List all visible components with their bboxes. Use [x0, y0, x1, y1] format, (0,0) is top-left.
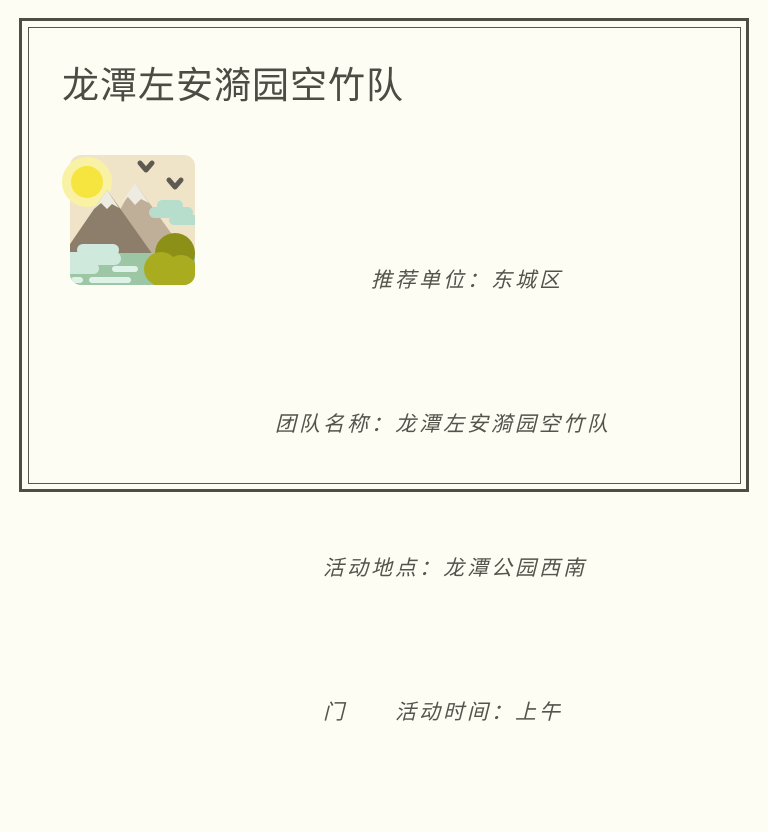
sun-core	[71, 166, 103, 198]
landscape-illustration-svg	[57, 145, 207, 295]
detail-line-team-name: 团队名称：龙潭左安漪园空竹队	[228, 400, 658, 448]
water-highlight-3	[89, 277, 131, 283]
detail-line-recommending-unit: 推荐单位：东城区	[228, 256, 658, 304]
poster-page: 龙潭左安漪园空竹队	[0, 0, 768, 510]
detail-line-activity-location: 活动地点：龙潭公园西南	[228, 544, 658, 592]
team-details: 推荐单位：东城区 团队名称：龙潭左安漪园空竹队 活动地点：龙潭公园西南 门 活动…	[228, 160, 658, 832]
detail-line-activity-time: 门 活动时间：上午	[228, 688, 658, 736]
page-title: 龙潭左安漪园空竹队	[62, 62, 404, 110]
bush-base	[157, 267, 187, 289]
landscape-illustration	[57, 145, 207, 295]
water-highlight-2	[71, 277, 83, 283]
water-highlight-1	[112, 266, 138, 272]
